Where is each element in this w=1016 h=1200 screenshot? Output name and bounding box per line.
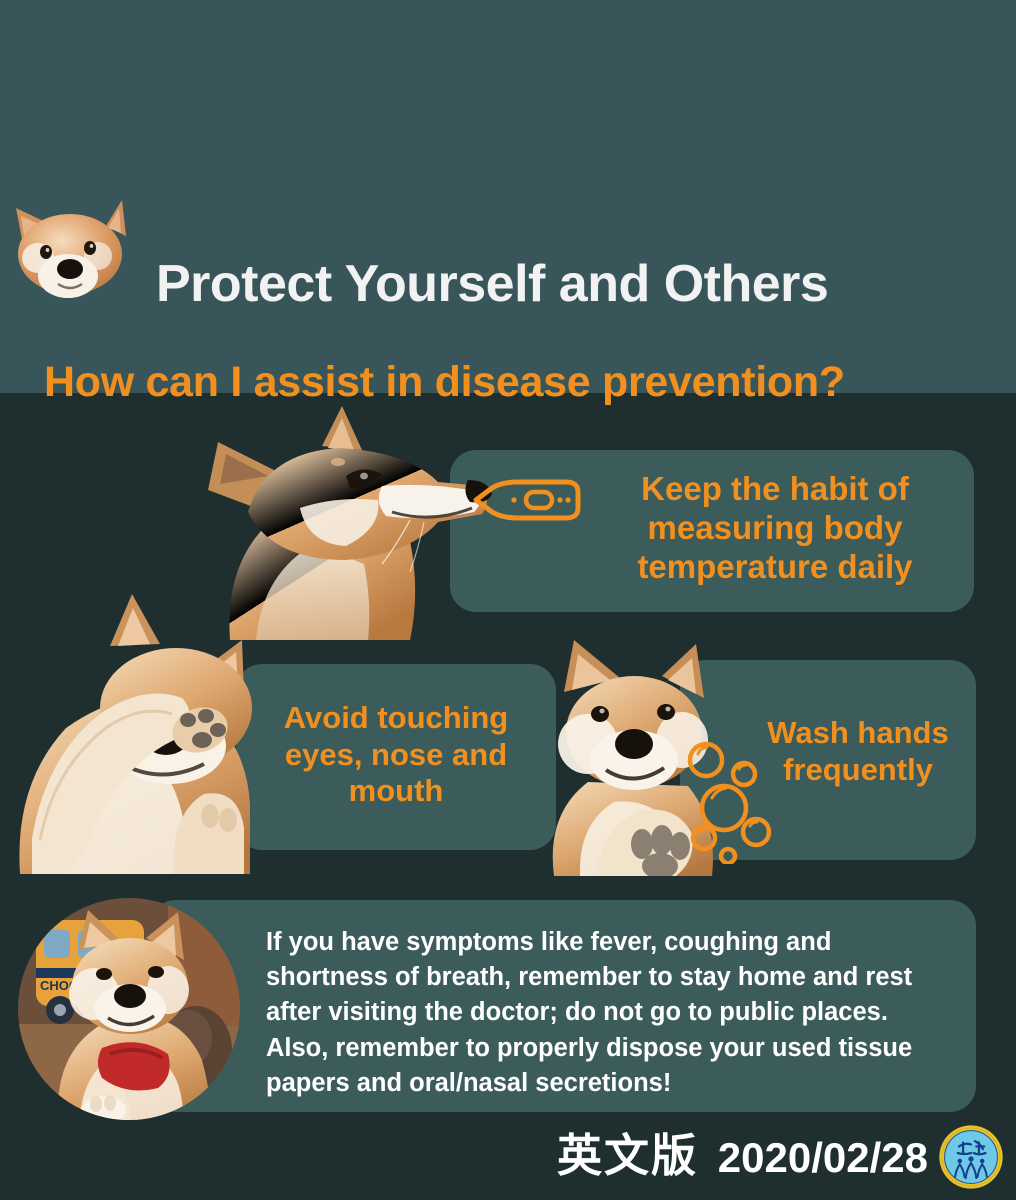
tip-text-temperature: Keep the habit of measuring body tempera… [580,470,970,587]
page-subtitle: How can I assist in disease prevention? [44,358,1004,407]
infographic-poster: Protect Yourself and Others How can I as… [0,0,1016,1200]
tip-text-avoid-touching: Avoid touching eyes, nose and mouth [248,700,544,810]
footer-date: 2020/02/28 [718,1134,928,1182]
shiba-covering-face-photo [14,588,284,874]
shiba-lying-down-photo: CHOOL BUS [18,898,240,1120]
page-title: Protect Yourself and Others [156,257,996,312]
footer: 英文版 2020/02/28 [0,1114,1016,1200]
footer-language-label: 英文版 [557,1119,698,1184]
tip-text-wash-hands: Wash hands frequently [736,715,980,788]
note-text: If you have symptoms like fever, coughin… [266,925,956,1101]
header-band [0,0,1016,393]
ministry-of-health-and-welfare-logo [938,1124,1004,1190]
shiba-head-icon [2,196,142,300]
thermometer-icon [466,472,584,528]
